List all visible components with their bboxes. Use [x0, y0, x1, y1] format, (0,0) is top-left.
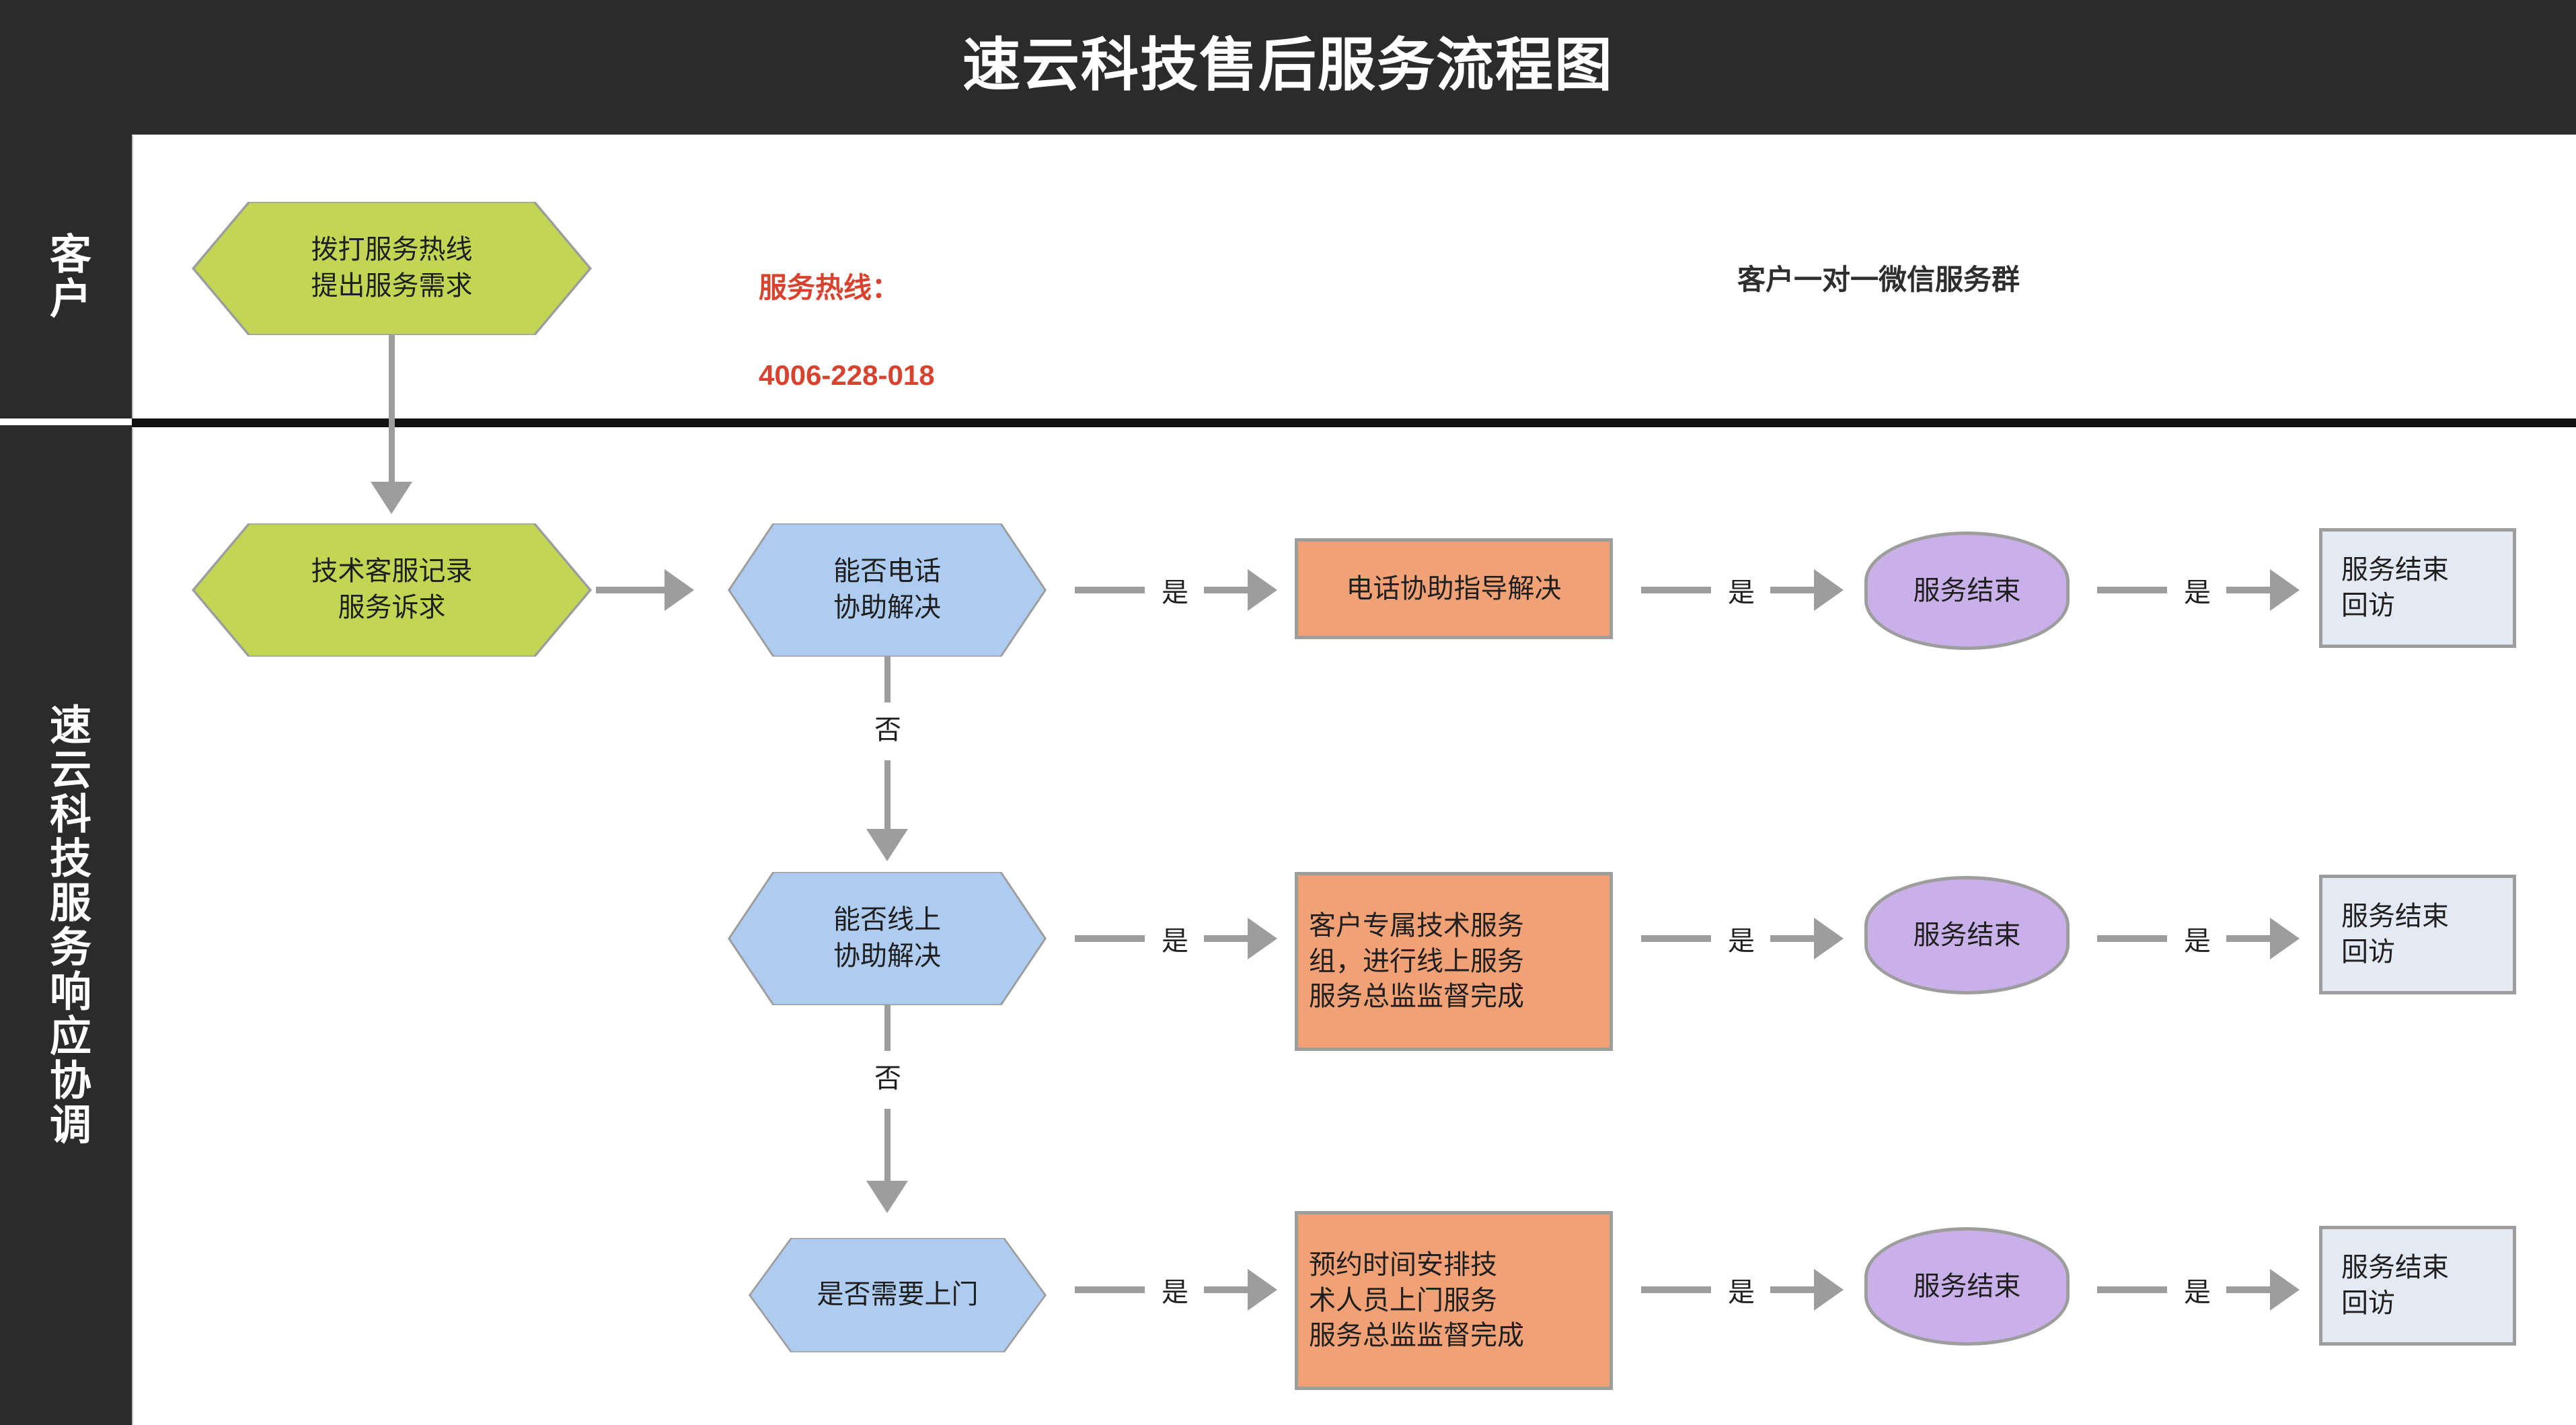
- connector-actiononsite-yes-line: [1770, 1286, 1816, 1293]
- connector-online-yes-arrowhead: [1248, 918, 1277, 959]
- connector-online-no-line: [884, 1109, 891, 1183]
- node-customer-call-label: 拨打服务热线 提出服务需求: [192, 202, 592, 335]
- connector-online-yes-line: [1204, 935, 1250, 942]
- node-end-2[interactable]: 服务结束: [1864, 876, 2070, 994]
- connector-actiononline-yes-line: [1770, 935, 1816, 942]
- connector-end1-yes-label: 是: [2167, 571, 2228, 610]
- connector-phone-yes-stub: [1075, 587, 1145, 593]
- connector-online-yes-label: 是: [1145, 919, 1205, 958]
- connector-call-to-record-line: [389, 335, 395, 484]
- connector-end1-yes-arrowhead: [2270, 569, 2300, 611]
- connector-phone-yes-label: 是: [1145, 571, 1205, 610]
- flow-canvas: 拨打服务热线 提出服务需求 服务热线： 4006-228-018 客户一对一微信…: [0, 0, 2576, 1425]
- connector-end3-yes-label: 是: [2167, 1270, 2228, 1309]
- connector-actiononline-yes-label: 是: [1711, 919, 1772, 958]
- node-decision-online-label: 能否线上 协助解决: [728, 872, 1047, 1005]
- connector-end3-yes-stub: [2097, 1286, 2167, 1293]
- node-customer-call[interactable]: 拨打服务热线 提出服务需求: [192, 202, 592, 335]
- connector-end1-yes-line: [2226, 587, 2272, 593]
- connector-actionphone-yes-label: 是: [1711, 571, 1772, 610]
- node-followup-1[interactable]: 服务结束 回访: [2319, 528, 2516, 648]
- connector-onsite-yes-label: 是: [1145, 1270, 1205, 1309]
- connector-end1-yes-stub: [2097, 587, 2167, 593]
- connector-actiononline-yes-stub: [1641, 935, 1711, 942]
- hotline-number: 4006-228-018: [759, 353, 935, 397]
- hotline-label: 服务热线：: [759, 266, 935, 309]
- node-decision-onsite[interactable]: 是否需要上门: [749, 1238, 1047, 1352]
- node-decision-phone-label: 能否电话 协助解决: [728, 523, 1047, 657]
- connector-end3-yes-arrowhead: [2270, 1269, 2300, 1311]
- connector-online-no-label: 否: [856, 1056, 920, 1095]
- connector-end2-yes-line: [2226, 935, 2272, 942]
- connector-actiononsite-yes-arrowhead: [1814, 1269, 1844, 1311]
- hotline-annotation: 服务热线： 4006-228-018: [759, 222, 935, 441]
- node-action-phone[interactable]: 电话协助指导解决: [1295, 538, 1613, 639]
- connector-end2-yes-label: 是: [2167, 919, 2228, 958]
- connector-end2-yes-arrowhead: [2270, 918, 2300, 959]
- connector-onsite-yes-stub: [1075, 1286, 1145, 1293]
- connector-onsite-yes-line: [1204, 1286, 1250, 1293]
- node-support-record-label: 技术客服记录 服务诉求: [192, 523, 592, 657]
- connector-online-yes-stub: [1075, 935, 1145, 942]
- connector-actionphone-yes-stub: [1641, 587, 1711, 593]
- node-end-1[interactable]: 服务结束: [1864, 532, 2070, 650]
- connector-record-to-phone-arrowhead: [665, 569, 694, 611]
- node-decision-phone[interactable]: 能否电话 协助解决: [728, 523, 1047, 657]
- node-action-online[interactable]: 客户专属技术服务 组，进行线上服务 服务总监监督完成: [1295, 872, 1613, 1051]
- connector-onsite-yes-arrowhead: [1248, 1269, 1277, 1311]
- connector-actionphone-yes-line: [1770, 587, 1816, 593]
- connector-phone-no-stub: [884, 657, 891, 702]
- connector-phone-no-arrowhead: [866, 829, 908, 861]
- node-decision-online[interactable]: 能否线上 协助解决: [728, 872, 1047, 1005]
- connector-phone-no-line: [884, 760, 891, 831]
- connector-online-no-stub: [884, 1005, 891, 1051]
- connector-end2-yes-stub: [2097, 935, 2167, 942]
- node-end-3[interactable]: 服务结束: [1864, 1227, 2070, 1346]
- connector-phone-yes-line: [1204, 587, 1250, 593]
- node-followup-2[interactable]: 服务结束 回访: [2319, 875, 2516, 994]
- connector-actionphone-yes-arrowhead: [1814, 569, 1844, 611]
- connector-end3-yes-line: [2226, 1286, 2272, 1293]
- node-decision-onsite-label: 是否需要上门: [749, 1238, 1047, 1352]
- connector-call-to-record-arrowhead: [371, 482, 412, 514]
- flowchart-page: 速云科技售后服务流程图 客户 速云科技服务响应协调 拨打服务热线 提出服务需求 …: [0, 0, 2576, 1425]
- connector-actiononsite-yes-label: 是: [1711, 1270, 1772, 1309]
- connector-phone-yes-arrowhead: [1248, 569, 1277, 611]
- connector-phone-no-label: 否: [856, 708, 920, 747]
- node-followup-3[interactable]: 服务结束 回访: [2319, 1226, 2516, 1346]
- connector-record-to-phone-line: [596, 587, 666, 593]
- connector-actiononsite-yes-stub: [1641, 1286, 1711, 1293]
- node-support-record[interactable]: 技术客服记录 服务诉求: [192, 523, 592, 657]
- wechat-group-annotation: 客户一对一微信服务群: [1737, 257, 2020, 298]
- connector-online-no-arrowhead: [866, 1181, 908, 1213]
- node-action-onsite[interactable]: 预约时间安排技 术人员上门服务 服务总监监督完成: [1295, 1211, 1613, 1390]
- connector-actiononline-yes-arrowhead: [1814, 918, 1844, 959]
